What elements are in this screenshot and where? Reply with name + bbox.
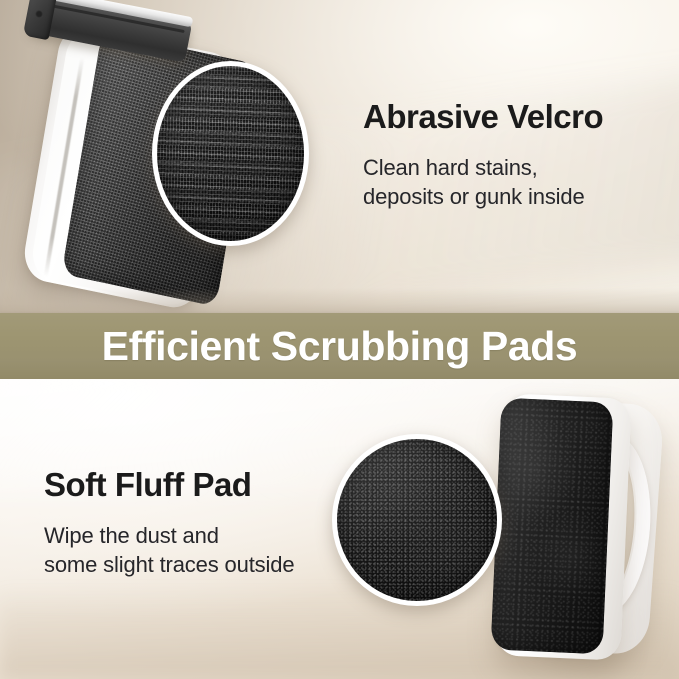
fluff-text-block: Soft Fluff Pad Wipe the dust and some sl… [44, 468, 294, 579]
banner-title: Efficient Scrubbing Pads [102, 326, 578, 367]
fluff-pad-sheen [491, 398, 614, 655]
fluff-texture-zoom-circle [332, 434, 502, 606]
velcro-texture-rows [157, 66, 304, 241]
fluff-description-line-2: some slight traces outside [44, 550, 294, 579]
velcro-texture-zoom-circle [152, 61, 309, 246]
velcro-description: Clean hard stains, deposits or gunk insi… [363, 153, 603, 211]
product-infographic: Abrasive Velcro Clean hard stains, depos… [0, 0, 679, 679]
center-banner: Efficient Scrubbing Pads [0, 313, 679, 379]
velcro-text-block: Abrasive Velcro Clean hard stains, depos… [363, 100, 603, 211]
velcro-description-line-2: deposits or gunk inside [363, 182, 603, 211]
fluff-pad [491, 398, 614, 655]
fluff-heading: Soft Fluff Pad [44, 468, 294, 503]
velcro-section-panel: Abrasive Velcro Clean hard stains, depos… [0, 0, 679, 314]
fluff-texture-clusters [337, 439, 497, 601]
fluff-description: Wipe the dust and some slight traces out… [44, 521, 294, 579]
velcro-heading: Abrasive Velcro [363, 100, 603, 135]
fluff-section-panel: Soft Fluff Pad Wipe the dust and some sl… [0, 379, 679, 679]
velcro-description-line-1: Clean hard stains, [363, 153, 603, 182]
fluff-description-line-1: Wipe the dust and [44, 521, 294, 550]
